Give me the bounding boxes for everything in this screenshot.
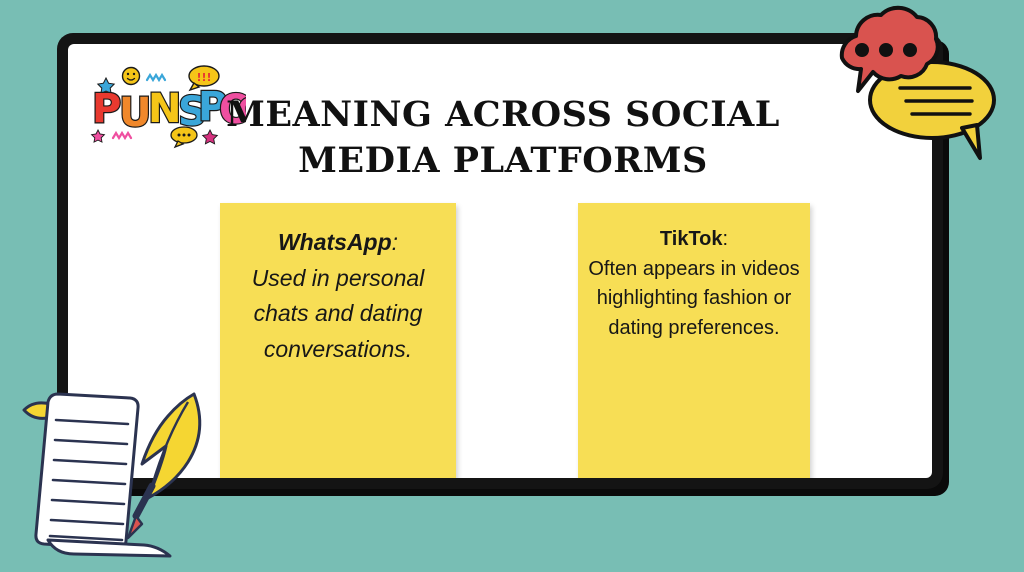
- svg-text:P: P: [92, 86, 121, 132]
- note-card-tiktok-content: TikTok: Often appears in videos highligh…: [578, 203, 810, 343]
- svg-text:!!!: !!!: [196, 71, 211, 84]
- svg-text:N: N: [148, 86, 181, 132]
- note-whatsapp-platform: WhatsApp: [278, 229, 392, 255]
- yellow-smiley-icon: [123, 68, 140, 85]
- note-tiktok-colon: :: [723, 228, 729, 250]
- note-tiktok-platform-line: TikTok:: [588, 225, 800, 255]
- svg-text:U: U: [119, 90, 151, 136]
- note-whatsapp-platform-line: WhatsApp:: [230, 225, 446, 261]
- note-tiktok-description: Often appears in videos highlighting fas…: [588, 255, 800, 344]
- note-tiktok-platform: TikTok: [660, 228, 723, 250]
- page-title: MEANING ACROSS SOCIAL MEDIA PLATFORMS: [198, 92, 808, 184]
- title-line-2: MEDIA PLATFORMS: [198, 138, 808, 184]
- slide-canvas: !!! P U N S P O O: [0, 0, 1024, 572]
- scroll-top-curl: [24, 403, 50, 418]
- blue-zigzag-icon: [147, 75, 165, 80]
- note-whatsapp-colon: :: [392, 229, 398, 255]
- quill-nib: [128, 516, 142, 538]
- title-line-1: MEANING ACROSS SOCIAL: [198, 92, 808, 138]
- yellow-dots-bubble-icon: [171, 127, 197, 147]
- note-card-whatsapp[interactable]: WhatsApp: Used in personal chats and dat…: [220, 203, 456, 478]
- note-whatsapp-description: Used in personal chats and dating conver…: [230, 261, 446, 368]
- scroll-bottom-curl: [48, 540, 170, 556]
- slide-surface: !!! P U N S P O O: [68, 44, 932, 478]
- note-card-whatsapp-content: WhatsApp: Used in personal chats and dat…: [220, 203, 456, 368]
- note-card-tiktok[interactable]: TikTok: Often appears in videos highligh…: [578, 203, 810, 478]
